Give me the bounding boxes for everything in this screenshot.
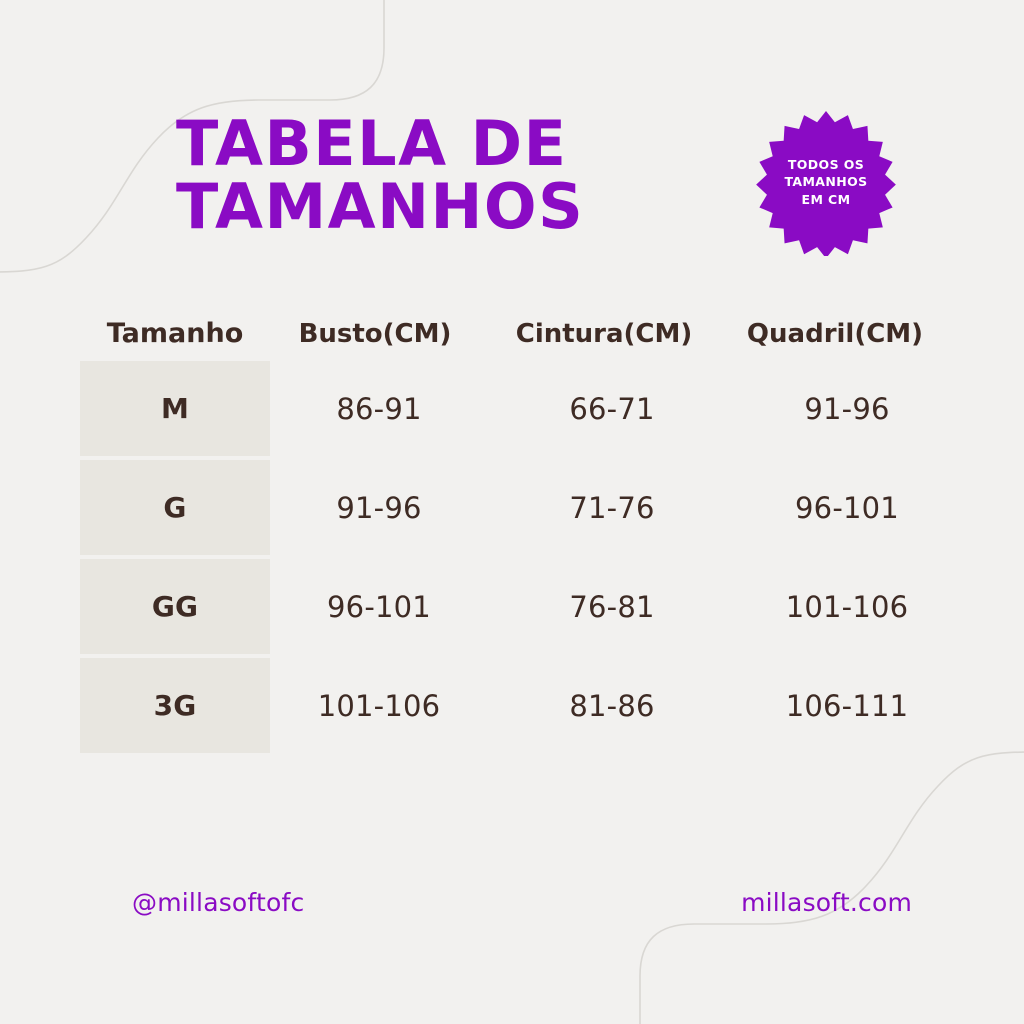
units-badge-line-3: EM CM: [802, 192, 851, 208]
table-row: M 86-91 66-71 91-96: [80, 361, 942, 456]
units-badge-line-1: TODOS OS: [788, 157, 864, 173]
units-badge-text: TODOS OS TAMANHOS EM CM: [752, 108, 900, 256]
cell-cintura: 76-81: [488, 559, 736, 654]
cell-cintura: 81-86: [488, 658, 736, 753]
cell-size: G: [80, 460, 270, 555]
size-table-header-row: Tamanho Busto(CM) Cintura(CM) Quadril(CM…: [80, 318, 942, 361]
page-title: TABELA DE TAMANHOS: [176, 112, 736, 238]
units-badge: TODOS OS TAMANHOS EM CM: [752, 108, 900, 256]
cell-cintura: 66-71: [488, 361, 736, 456]
cell-busto: 101-106: [274, 658, 484, 753]
page-title-line-2: TAMANHOS: [176, 175, 736, 238]
cell-busto: 91-96: [274, 460, 484, 555]
table-row: G 91-96 71-76 96-101: [80, 460, 942, 555]
cell-busto: 96-101: [274, 559, 484, 654]
cell-cintura: 71-76: [488, 460, 736, 555]
cell-quadril: 106-111: [740, 658, 954, 753]
column-header-busto: Busto(CM): [270, 319, 480, 349]
column-header-cintura: Cintura(CM): [480, 319, 728, 349]
cell-busto: 86-91: [274, 361, 484, 456]
table-row: 3G 101-106 81-86 106-111: [80, 658, 942, 753]
page-footer: @millasoftofc millasoft.com: [80, 888, 942, 917]
cell-size: 3G: [80, 658, 270, 753]
table-row: GG 96-101 76-81 101-106: [80, 559, 942, 654]
cell-size: M: [80, 361, 270, 456]
cell-quadril: 96-101: [740, 460, 954, 555]
units-badge-line-2: TAMANHOS: [784, 174, 867, 190]
website-link[interactable]: millasoft.com: [741, 888, 912, 917]
cell-quadril: 91-96: [740, 361, 954, 456]
cell-size: GG: [80, 559, 270, 654]
size-chart-page: TABELA DE TAMANHOS TODOS OS TAMANHOS EM …: [0, 0, 1024, 1024]
social-handle[interactable]: @millasoftofc: [132, 888, 304, 917]
column-header-quadril: Quadril(CM): [728, 319, 942, 349]
cell-quadril: 101-106: [740, 559, 954, 654]
size-table: Tamanho Busto(CM) Cintura(CM) Quadril(CM…: [80, 318, 942, 757]
size-table-body: M 86-91 66-71 91-96 G 91-96 71-76 96-101…: [80, 361, 942, 753]
column-header-tamanho: Tamanho: [80, 318, 270, 349]
page-title-line-1: TABELA DE: [176, 112, 736, 175]
